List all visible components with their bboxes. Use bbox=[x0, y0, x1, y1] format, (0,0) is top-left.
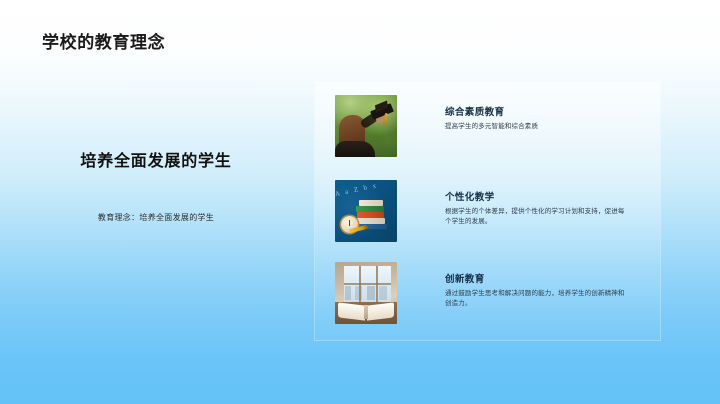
books-and-clock-illustration: A a Z b x bbox=[335, 180, 397, 242]
graduate-gown-shape bbox=[335, 141, 375, 157]
feature-description: 提高学生的多元智能和综合素质 bbox=[445, 122, 631, 132]
main-heading: 培养全面发展的学生 bbox=[0, 150, 312, 174]
book-shape bbox=[356, 206, 384, 212]
tassel-shape bbox=[383, 113, 388, 126]
open-book-by-window-photo bbox=[335, 262, 397, 324]
left-content-block: 培养全面发展的学生 教育理念：培养全面发展的学生 bbox=[0, 150, 312, 223]
feature-text-block: 综合素质教育 提高学生的多元智能和综合素质 bbox=[445, 95, 645, 132]
list-item[interactable]: 创新教育 通过鼓励学生思考和解决问题的能力，培养学生的创新精神和创造力。 bbox=[335, 262, 645, 324]
feature-list: 综合素质教育 提高学生的多元智能和综合素质 A a Z b x 个性化教学 bbox=[315, 82, 660, 340]
book-shape bbox=[355, 218, 385, 224]
feature-description: 根据学生的个体差异，提供个性化的学习计划和支持，促进每个学生的发展。 bbox=[445, 207, 631, 227]
list-item[interactable]: A a Z b x 个性化教学 根据学生的个体差异，提供个性化的学习计划和支持，… bbox=[335, 180, 645, 242]
philosophy-caption: 教育理念：培养全面发展的学生 bbox=[0, 212, 312, 223]
features-panel: 综合素质教育 提高学生的多元智能和综合素质 A a Z b x 个性化教学 bbox=[315, 82, 660, 340]
list-item[interactable]: 综合素质教育 提高学生的多元智能和综合素质 bbox=[335, 95, 645, 157]
page-title: 学校的教育理念 bbox=[42, 28, 165, 53]
graduate-with-cap-photo bbox=[335, 95, 397, 157]
window-mullion bbox=[344, 283, 391, 285]
book-spine-shape bbox=[364, 305, 368, 319]
book-page-left-shape bbox=[338, 302, 365, 320]
feature-text-block: 个性化教学 根据学生的个体差异，提供个性化的学习计划和支持，促进每个学生的发展。 bbox=[445, 180, 645, 227]
feature-description: 通过鼓励学生思考和解决问题的能力，培养学生的创新精神和创造力。 bbox=[445, 289, 631, 309]
feature-title: 综合素质教育 bbox=[445, 106, 645, 119]
feature-title: 创新教育 bbox=[445, 273, 645, 286]
skyline-decor bbox=[345, 286, 387, 300]
feature-text-block: 创新教育 通过鼓励学生思考和解决问题的能力，培养学生的创新精神和创造力。 bbox=[445, 262, 645, 309]
book-shape bbox=[357, 212, 384, 218]
book-shape bbox=[359, 200, 383, 206]
feature-title: 个性化教学 bbox=[445, 191, 645, 204]
slide-canvas: 学校的教育理念 培养全面发展的学生 教育理念：培养全面发展的学生 综合素质教育 … bbox=[0, 0, 720, 404]
